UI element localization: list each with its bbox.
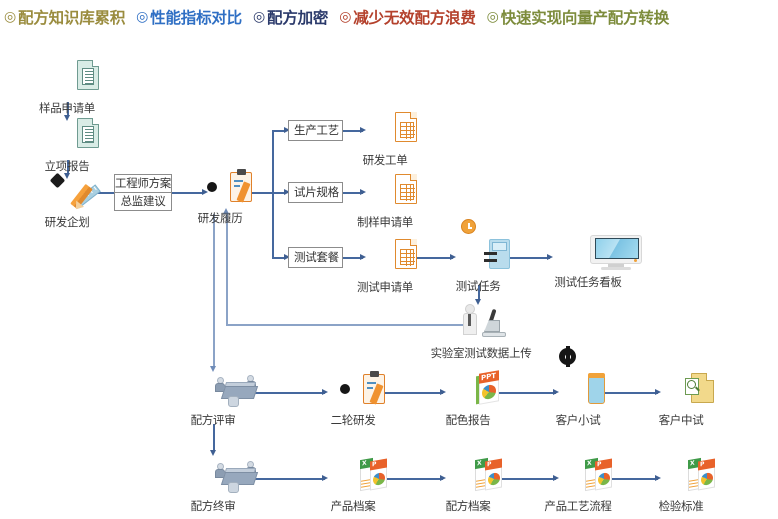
xls-ppt-file-icon: X P [420, 456, 516, 498]
node-product-process-flow[interactable]: X P 产品工艺流程 [530, 456, 626, 513]
node-lab-data-upload[interactable]: 实验室测试数据上传 [416, 303, 546, 360]
connector-lab-feedback-vertical [226, 214, 228, 325]
node-color-report[interactable]: PPT 配色报告 [420, 370, 516, 427]
header-item-3: ◎ 减少无效配方浪费 [339, 6, 475, 28]
circle-marker-icon: ◎ [4, 10, 16, 24]
node-label: 产品工艺流程 [530, 500, 626, 513]
flowchart-canvas: ◎ 配方知识库累积 ◎ 性能指标对比 ◎ 配方加密 ◎ 减少无效配方浪费 ◎ 快… [0, 0, 778, 519]
node-inspection-standard[interactable]: X P 检验标准 [633, 456, 729, 513]
node-label: 制样申请单 [337, 216, 433, 229]
node-rd-history[interactable]: 研发履历 [172, 168, 268, 225]
node-label: 研发工单 [337, 154, 433, 167]
document-table-orange-icon [337, 110, 433, 152]
label-box-production-process[interactable]: 生产工艺 [288, 120, 343, 141]
label-director-advice: 总监建议 [115, 192, 171, 210]
connector-branch-bus [272, 130, 274, 258]
node-label: 研发履历 [172, 212, 268, 225]
node-customer-pilot-small[interactable]: 客户小试 [530, 370, 626, 427]
node-formula-archive[interactable]: X P 配方档案 [420, 456, 516, 513]
clipboard-pen-icon [172, 168, 268, 210]
node-project-report[interactable]: 立项报告 [19, 116, 115, 173]
node-label: 样品申请单 [19, 102, 115, 115]
node-formula-final-review[interactable]: 配方终审 [165, 456, 261, 513]
document-teal-icon [19, 58, 115, 100]
meeting-table-icon [165, 370, 261, 412]
header-banner: ◎ 配方知识库累积 ◎ 性能指标对比 ◎ 配方加密 ◎ 减少无效配方浪费 ◎ 快… [0, 0, 778, 34]
test-machine-clock-icon [430, 236, 526, 278]
label-box-specimen-spec[interactable]: 试片规格 [288, 182, 343, 203]
node-label: 测试任务看板 [540, 276, 636, 289]
node-test-request[interactable]: 测试申请单 [337, 237, 433, 294]
clipboard-pen-icon [305, 370, 401, 412]
node-label: 配方评审 [165, 414, 261, 427]
xls-ppt-file-icon: X P [530, 456, 626, 498]
node-product-archive[interactable]: X P 产品档案 [305, 456, 401, 513]
search-document-icon [633, 370, 729, 412]
xls-ppt-file-icon: X P [305, 456, 401, 498]
circle-marker-icon: ◎ [253, 10, 265, 24]
ppt-report-icon: PPT [420, 370, 516, 412]
label-box-test-package[interactable]: 测试套餐 [288, 247, 343, 268]
header-label-4: 快速实现向量产配方转换 [501, 6, 669, 28]
node-label: 配色报告 [420, 414, 516, 427]
header-label-1: 性能指标对比 [150, 6, 242, 28]
document-table-orange-icon [337, 172, 433, 214]
node-label: 客户中试 [633, 414, 729, 427]
circle-marker-icon: ◎ [339, 10, 351, 24]
node-label: 测试申请单 [337, 281, 433, 294]
xls-ppt-file-icon: X P [633, 456, 729, 498]
meeting-table-icon [165, 456, 261, 498]
label-box-engineer-director[interactable]: 工程师方案 总监建议 [114, 174, 172, 211]
node-label: 配方终审 [165, 500, 261, 513]
phone-gear-icon [530, 370, 626, 412]
monitor-icon [540, 232, 636, 274]
header-item-2: ◎ 配方加密 [253, 6, 328, 28]
connector-review-to-final [213, 424, 215, 452]
node-rd-planning[interactable]: 研发企划 [19, 172, 115, 229]
node-label: 检验标准 [633, 500, 729, 513]
node-sample-making-request[interactable]: 制样申请单 [337, 172, 433, 229]
header-item-0: ◎ 配方知识库累积 [4, 6, 125, 28]
header-label-2: 配方加密 [267, 6, 328, 28]
header-item-1: ◎ 性能指标对比 [136, 6, 242, 28]
node-label: 研发企划 [19, 216, 115, 229]
microscope-person-icon [416, 303, 546, 345]
node-formula-review[interactable]: 配方评审 [165, 370, 261, 427]
circle-marker-icon: ◎ [136, 10, 148, 24]
node-test-task-board[interactable]: 测试任务看板 [540, 232, 636, 289]
connector-history-to-review [213, 214, 215, 368]
circle-marker-icon: ◎ [487, 10, 499, 24]
pencil-ruler-icon [19, 172, 115, 214]
node-label: 二轮研发 [305, 414, 401, 427]
header-item-4: ◎ 快速实现向量产配方转换 [487, 6, 669, 28]
header-label-3: 减少无效配方浪费 [353, 6, 475, 28]
node-test-task[interactable]: 测试任务 [430, 236, 526, 293]
label-engineer-plan: 工程师方案 [115, 175, 171, 192]
node-label: 产品档案 [305, 500, 401, 513]
node-label: 实验室测试数据上传 [416, 347, 546, 360]
node-sample-request[interactable]: 样品申请单 [19, 58, 115, 115]
document-table-orange-icon [337, 237, 433, 279]
node-label: 客户小试 [530, 414, 626, 427]
header-label-0: 配方知识库累积 [18, 6, 125, 28]
node-label: 配方档案 [420, 500, 516, 513]
node-customer-pilot-mid[interactable]: 客户中试 [633, 370, 729, 427]
node-rd-work-order[interactable]: 研发工单 [337, 110, 433, 167]
document-teal-icon [19, 116, 115, 158]
node-label: 测试任务 [430, 280, 526, 293]
node-second-round-rd[interactable]: 二轮研发 [305, 370, 401, 427]
